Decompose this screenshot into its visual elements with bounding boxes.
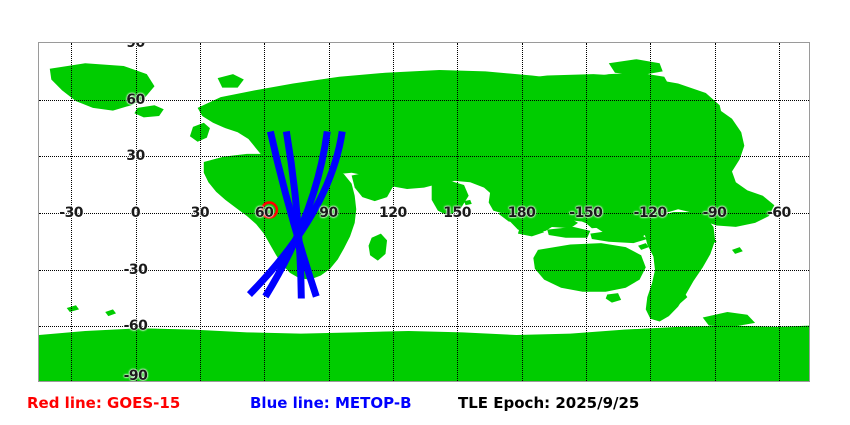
lon-tick-m90: -90 (703, 206, 727, 220)
lat-tick-m60: -60 (124, 319, 148, 333)
legend-blue-line-label: Blue line: METOP-B (250, 396, 412, 411)
lat-tick-90: 90 (126, 42, 144, 50)
lat-tick-60: 60 (126, 93, 144, 107)
lon-tick-180: 180 (508, 206, 536, 220)
world-map-plot: 90 60 30 0 -30 -60 -90 -30 0 30 60 90 12… (38, 42, 810, 382)
lon-tick-m150: -150 (569, 206, 602, 220)
lon-tick-m30: -30 (59, 206, 83, 220)
lat-tick-30: 30 (126, 149, 144, 163)
lon-tick-120: 120 (379, 206, 407, 220)
lon-tick-30: 30 (191, 206, 209, 220)
lon-tick-60: 60 (255, 206, 273, 220)
lat-tick-m90: -90 (124, 369, 148, 382)
legend: Red line: GOES-15 Blue line: METOP-B TLE… (0, 392, 850, 420)
legend-tle-epoch-label: TLE Epoch: 2025/9/25 (458, 396, 639, 411)
lon-tick-150: 150 (443, 206, 471, 220)
lon-tick-m60: -60 (767, 206, 791, 220)
lon-tick-0: 0 (131, 206, 140, 220)
lon-tick-90: 90 (319, 206, 337, 220)
world-map-landmass (39, 43, 809, 381)
lat-tick-m30: -30 (124, 263, 148, 277)
lon-tick-m120: -120 (634, 206, 667, 220)
legend-red-line-label: Red line: GOES-15 (27, 396, 180, 411)
